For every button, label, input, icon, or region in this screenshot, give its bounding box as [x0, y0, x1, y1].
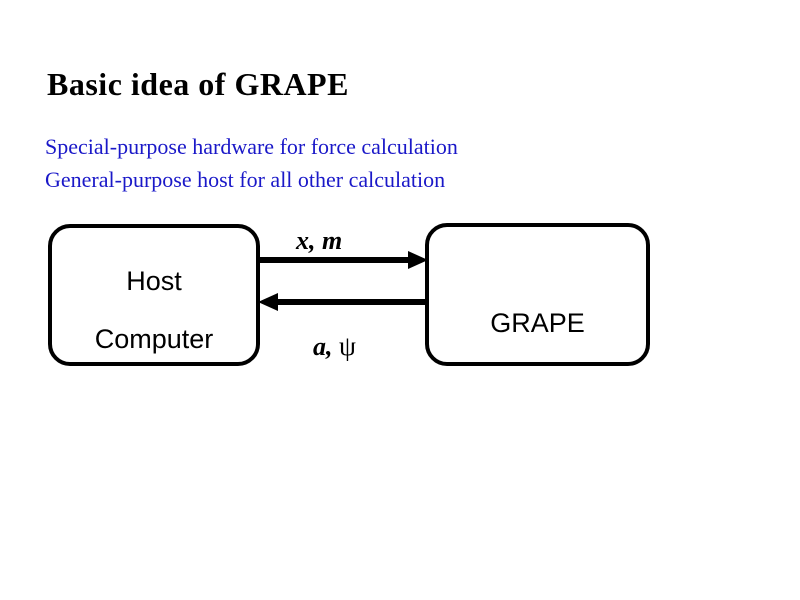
subtitle-block: Special-purpose hardware for force calcu… [45, 130, 458, 196]
page-title: Basic idea of GRAPE [47, 68, 349, 100]
slide-canvas: Basic idea of GRAPE Special-purpose hard… [0, 0, 800, 600]
subtitle-line-2: General-purpose host for all other calcu… [45, 163, 458, 196]
computer-label: Computer [52, 326, 256, 353]
arrow-label-forward-sym1: x, [296, 226, 316, 255]
arrow-label-forward-sym2: m [322, 226, 342, 255]
host-label: Host [52, 268, 256, 295]
host-computer-box[interactable]: Host Computer [48, 224, 260, 366]
arrow-label-grape-to-host: a, ψ [313, 333, 356, 360]
arrow-label-back-sym1: a, [313, 332, 333, 361]
arrow-label-host-to-grape: x, m [296, 228, 342, 254]
arrow-host-to-grape-icon [258, 248, 428, 272]
arrow-label-back-sym2: ψ [339, 331, 356, 361]
grape-box[interactable]: GRAPE [425, 223, 650, 366]
arrow-grape-to-host-icon [258, 290, 428, 314]
subtitle-line-1: Special-purpose hardware for force calcu… [45, 130, 458, 163]
grape-label: GRAPE [429, 310, 646, 337]
